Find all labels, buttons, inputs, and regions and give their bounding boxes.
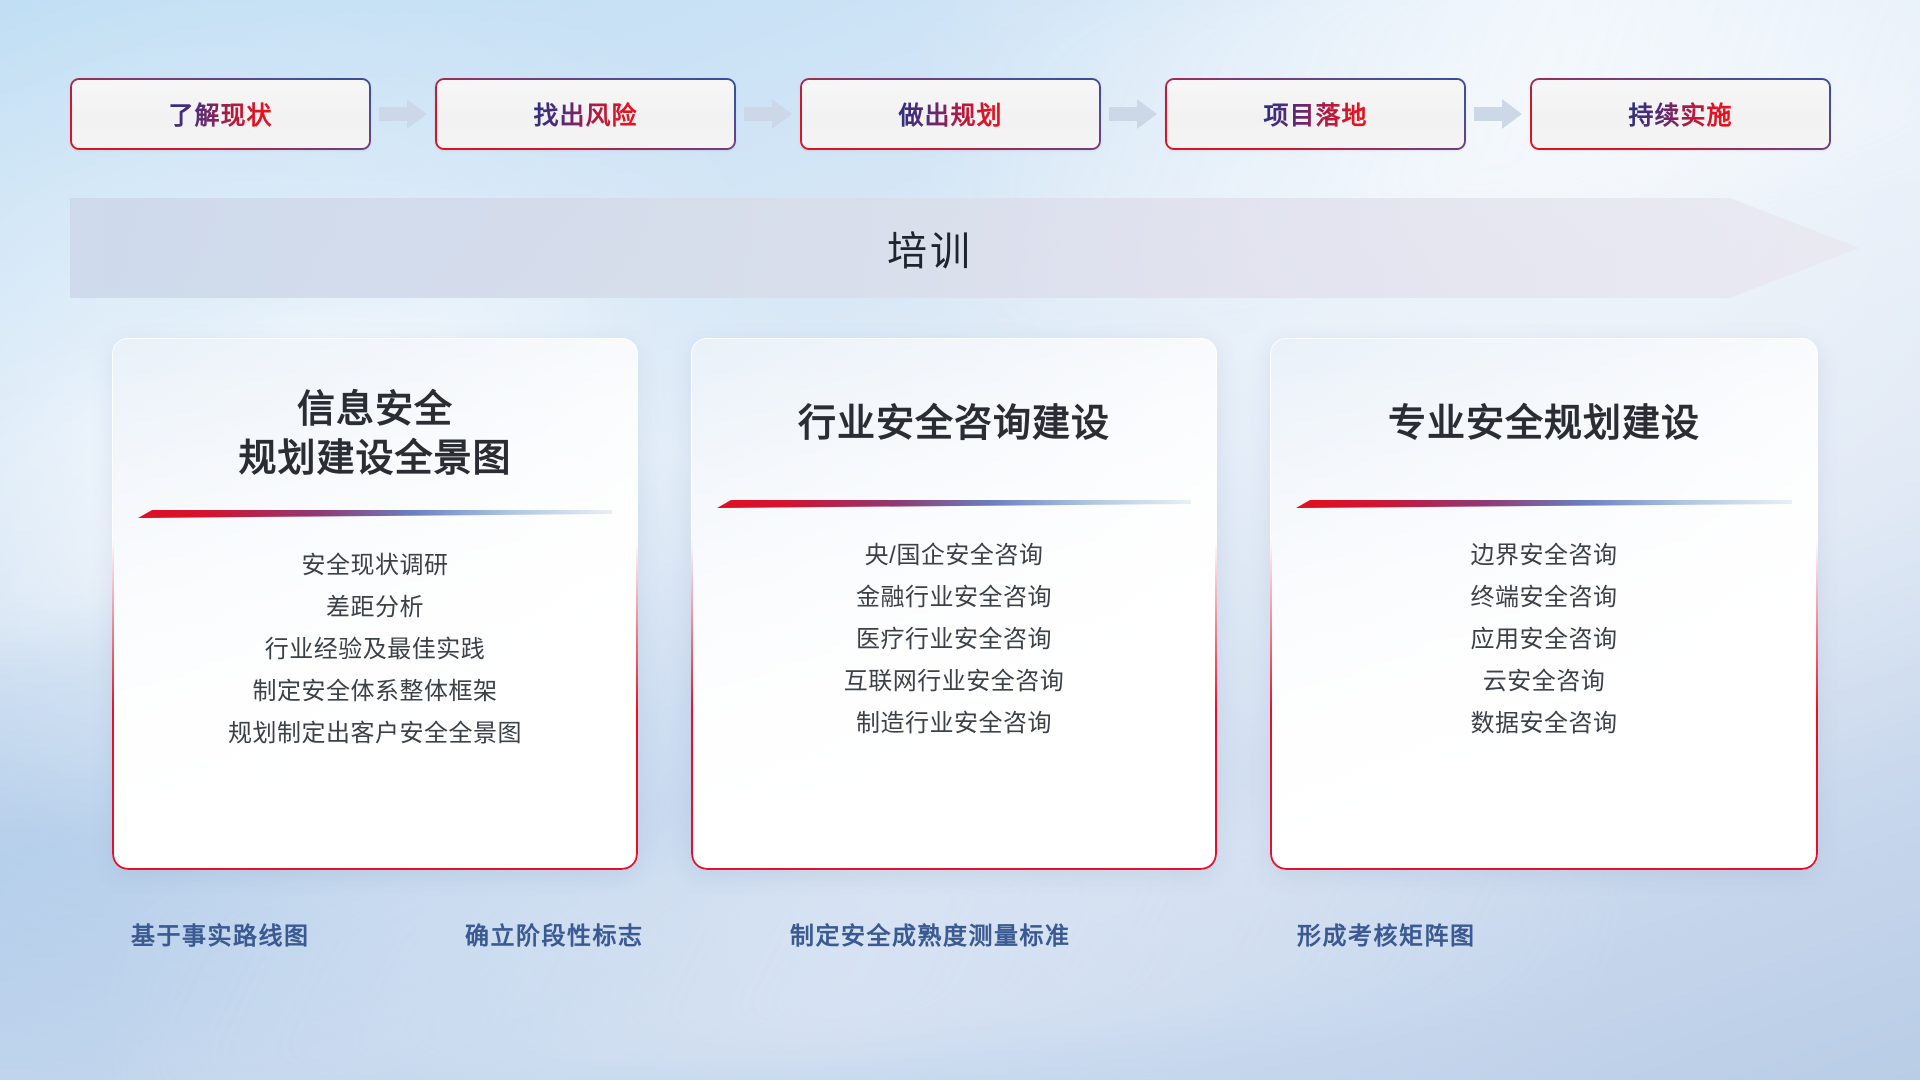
list-item: 规划制定出客户安全全景图 xyxy=(138,713,612,755)
step-box-3[interactable]: 做出规划 xyxy=(800,78,1101,150)
card-divider-rule xyxy=(1296,497,1792,509)
step-label: 项目落地 xyxy=(1263,96,1367,132)
footer-tag-1: 基于事实路线图 xyxy=(131,916,310,951)
list-item: 终端安全咨询 xyxy=(1296,577,1792,619)
list-item: 央/国企安全咨询 xyxy=(717,535,1191,577)
step-label: 找出风险 xyxy=(533,96,637,132)
step-label: 了解现状 xyxy=(168,96,272,132)
footer-tag-3: 制定安全成熟度测量标准 xyxy=(790,916,1071,951)
card-title: 信息安全 规划建设全景图 xyxy=(238,386,511,485)
footer-tag-2: 确立阶段性标志 xyxy=(465,916,644,951)
card-row: 信息安全 规划建设全景图 xyxy=(112,338,1818,870)
step-box-4[interactable]: 项目落地 xyxy=(1165,78,1466,150)
arrow-right-icon xyxy=(377,97,429,131)
training-banner: 培训 xyxy=(70,198,1860,298)
banner-title: 培训 xyxy=(70,198,1790,298)
card-item-list: 安全现状调研 差距分析 行业经验及最佳实践 制定安全体系整体框架 规划制定出客户… xyxy=(138,545,612,755)
step-label: 做出规划 xyxy=(898,96,1002,132)
card-item-list: 边界安全咨询 终端安全咨询 应用安全咨询 云安全咨询 数据安全咨询 xyxy=(1296,535,1792,745)
card-divider-rule xyxy=(138,507,612,519)
list-item: 互联网行业安全咨询 xyxy=(717,661,1191,703)
arrow-right-icon xyxy=(1472,97,1524,131)
list-item: 行业经验及最佳实践 xyxy=(138,629,612,671)
step-label: 持续实施 xyxy=(1628,96,1732,132)
arrow-right-icon xyxy=(742,97,794,131)
list-item: 数据安全咨询 xyxy=(1296,703,1792,745)
card-item-list: 央/国企安全咨询 金融行业安全咨询 医疗行业安全咨询 互联网行业安全咨询 制造行… xyxy=(717,535,1191,745)
card-title: 专业安全规划建设 xyxy=(1388,400,1700,449)
slide-canvas: 了解现状 找出风险 做出规划 项目落地 持续实施 xyxy=(0,0,1920,1080)
info-card-2[interactable]: 行业安全咨询建设 xyxy=(691,338,1217,870)
list-item: 差距分析 xyxy=(138,587,612,629)
list-item: 制造行业安全咨询 xyxy=(717,703,1191,745)
step-box-2[interactable]: 找出风险 xyxy=(435,78,736,150)
process-step-strip: 了解现状 找出风险 做出规划 项目落地 持续实施 xyxy=(70,78,1860,150)
card-title: 行业安全咨询建设 xyxy=(798,400,1110,449)
info-card-1[interactable]: 信息安全 规划建设全景图 xyxy=(112,338,638,870)
arrow-right-icon xyxy=(1107,97,1159,131)
step-box-5[interactable]: 持续实施 xyxy=(1530,78,1831,150)
info-card-3[interactable]: 专业安全规划建设 xyxy=(1270,338,1818,870)
step-box-1[interactable]: 了解现状 xyxy=(70,78,371,150)
footer-tag-4: 形成考核矩阵图 xyxy=(1297,916,1476,951)
list-item: 边界安全咨询 xyxy=(1296,535,1792,577)
list-item: 应用安全咨询 xyxy=(1296,619,1792,661)
card-divider-rule xyxy=(717,497,1191,509)
list-item: 云安全咨询 xyxy=(1296,661,1792,703)
list-item: 金融行业安全咨询 xyxy=(717,577,1191,619)
list-item: 医疗行业安全咨询 xyxy=(717,619,1191,661)
list-item: 安全现状调研 xyxy=(138,545,612,587)
list-item: 制定安全体系整体框架 xyxy=(138,671,612,713)
